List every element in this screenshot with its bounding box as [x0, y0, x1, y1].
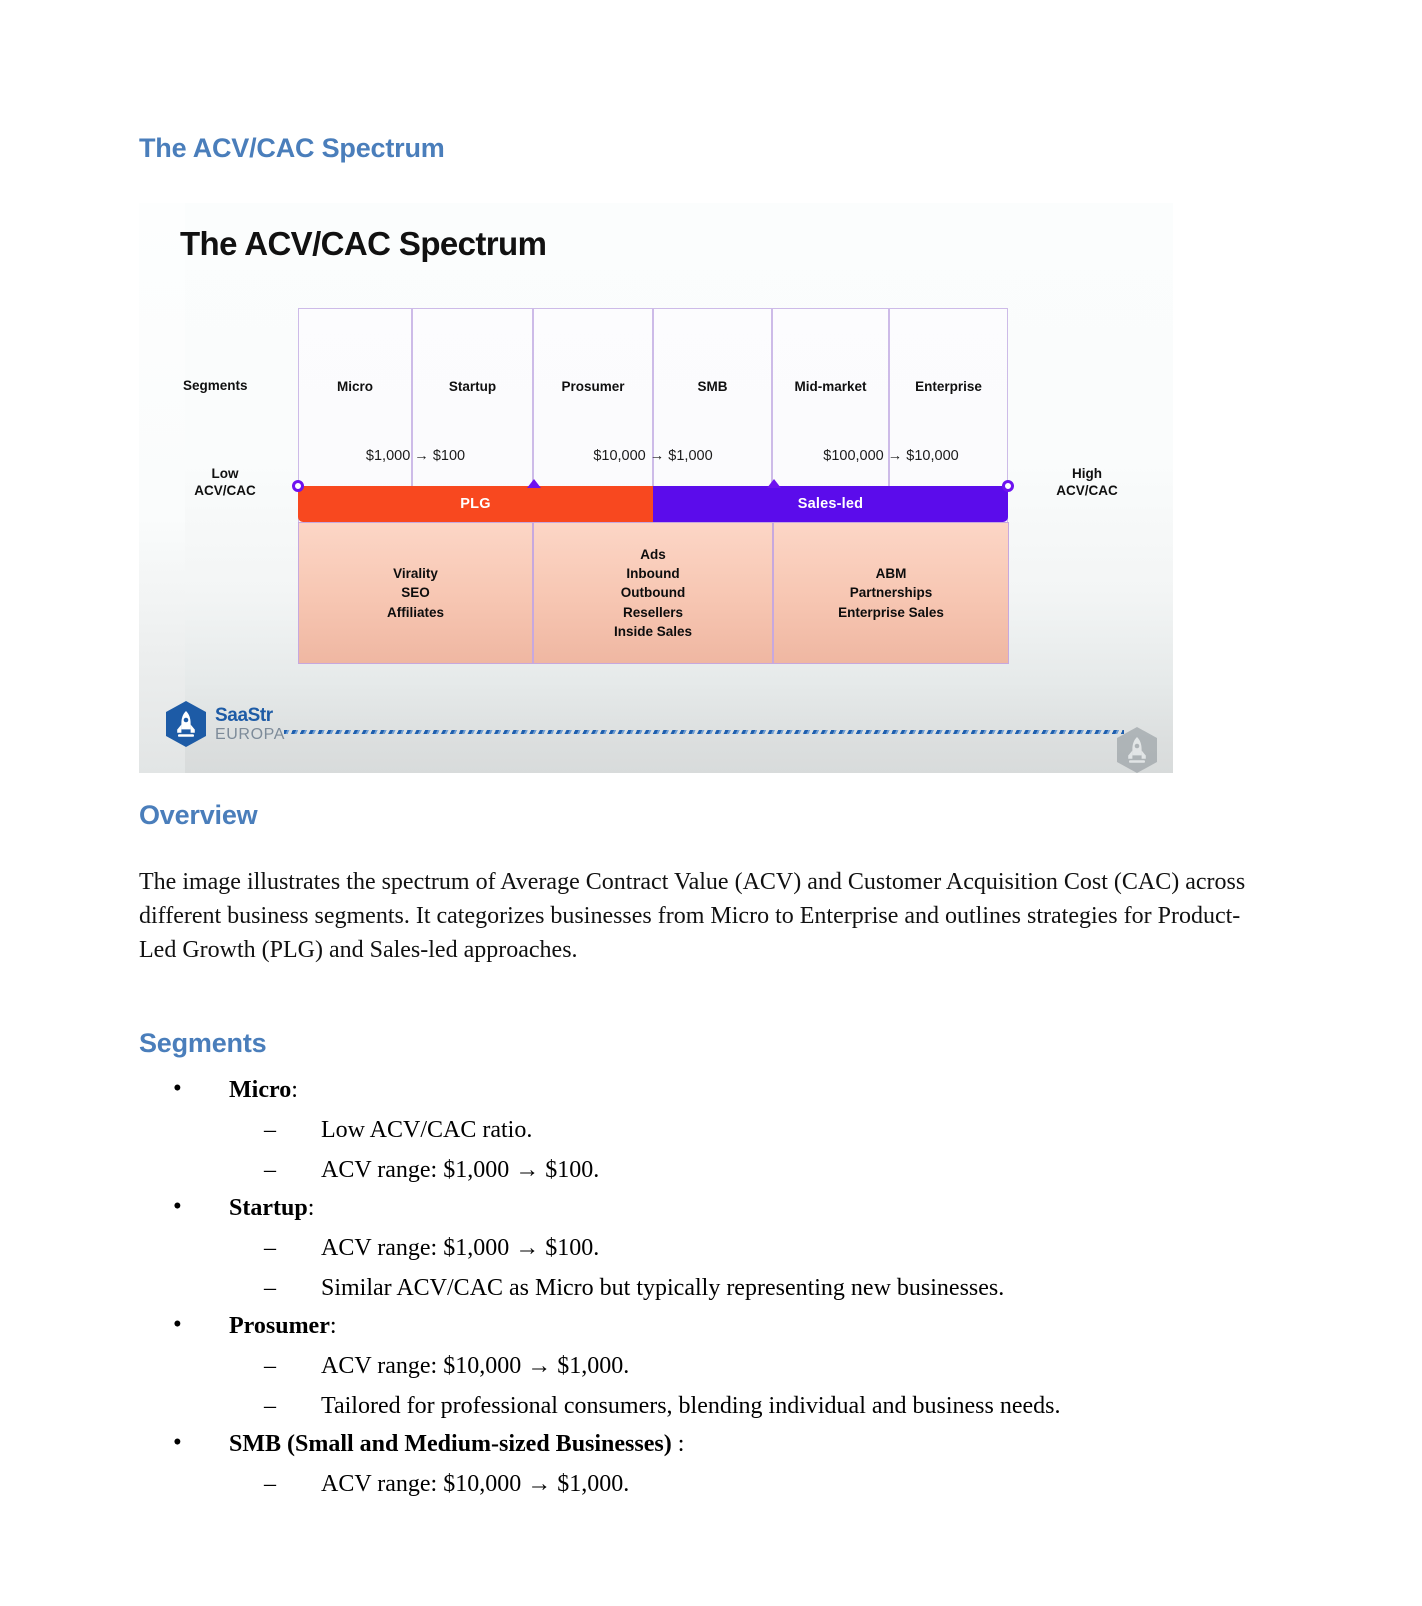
- low-acv-cac-label: Low ACV/CAC: [173, 466, 277, 500]
- overview-heading: Overview: [139, 800, 257, 831]
- bullet-label-suffix: :: [308, 1195, 315, 1221]
- low-acv-cac-line2: ACV/CAC: [194, 483, 256, 498]
- segment-label-enterprise: Enterprise: [890, 379, 1007, 394]
- spectrum-tick-marker-2-icon: [767, 479, 781, 488]
- sub-bullet-marker: –: [264, 1118, 276, 1142]
- saastr-rocket-hexagon-icon: [164, 700, 208, 748]
- acv-cac-spectrum-slide: The ACV/CAC Spectrum Segments Micro Star…: [139, 203, 1173, 773]
- segment-label-micro: Micro: [299, 379, 411, 394]
- tactic-item: Inside Sales: [614, 622, 692, 641]
- saastr-brand-name: SaaStr: [215, 706, 285, 725]
- acv-range-midmarket-enterprise: $100,000 → $10,000: [773, 448, 1009, 464]
- list-item: – Tailored for professional consumers, b…: [139, 1394, 1319, 1418]
- segments-row-label: Segments: [183, 378, 248, 393]
- sub-bullet-marker: –: [264, 1472, 276, 1496]
- plg-bar-label: PLG: [460, 496, 490, 512]
- list-item: • Startup:: [139, 1196, 1319, 1220]
- bullet-label-text: Startup: [229, 1195, 308, 1221]
- saastr-wordmark: SaaStr EUROPA: [215, 706, 285, 743]
- sub-bullet-marker: –: [264, 1394, 276, 1418]
- high-acv-cac-line2: ACV/CAC: [1056, 483, 1118, 498]
- high-acv-cac-label: High ACV/CAC: [1035, 466, 1139, 500]
- sub-bullet-text: ACV range: $10,000 → $1,000.: [321, 1471, 629, 1497]
- bullet-label-suffix: :: [330, 1313, 337, 1339]
- spectrum-end-marker-icon: [1002, 480, 1014, 492]
- spectrum-tick-marker-1-icon: [527, 479, 541, 488]
- bullet-label: SMB (Small and Medium-sized Businesses) …: [229, 1431, 684, 1457]
- acv-range-prosumer-smb: $10,000 → $1,000: [533, 448, 773, 464]
- sub-bullet-text: ACV range: $1,000 → $100.: [321, 1157, 599, 1183]
- sub-bullet-text: Tailored for professional consumers, ble…: [321, 1393, 1061, 1419]
- footer-dashed-line: [284, 730, 1124, 734]
- sub-bullet-marker: –: [264, 1276, 276, 1300]
- tactic-item: ABM: [838, 564, 944, 583]
- sub-bullet-text: ACV range: $10,000 → $1,000.: [321, 1353, 629, 1379]
- tactic-item: Partnerships: [838, 583, 944, 602]
- segment-label-smb: SMB: [654, 379, 771, 394]
- list-item: – ACV range: $10,000 → $1,000.: [139, 1354, 1319, 1378]
- document-page: The ACV/CAC Spectrum The ACV/CAC Spectru…: [0, 0, 1422, 1606]
- sub-bullet-marker: –: [264, 1236, 276, 1260]
- bullet-label-text: Prosumer: [229, 1313, 330, 1339]
- bullet-marker: •: [173, 1430, 182, 1455]
- bullet-label: Startup:: [229, 1195, 314, 1221]
- list-item: • SMB (Small and Medium-sized Businesses…: [139, 1432, 1319, 1456]
- spectrum-start-marker-icon: [292, 480, 304, 492]
- plg-bar: PLG: [298, 486, 653, 522]
- tactic-item: Virality: [387, 564, 444, 583]
- bullet-label: Prosumer:: [229, 1313, 337, 1339]
- tactics-box-mixed: Ads Inbound Outbound Resellers Inside Sa…: [533, 522, 773, 664]
- list-item: • Prosumer:: [139, 1314, 1319, 1338]
- tactic-item: Outbound: [614, 583, 692, 602]
- bullet-label: Micro:: [229, 1077, 298, 1103]
- slide-title: The ACV/CAC Spectrum: [180, 225, 546, 263]
- bullet-marker: •: [173, 1312, 182, 1337]
- bullet-label-text: Micro: [229, 1077, 291, 1103]
- tactic-item: SEO: [387, 583, 444, 602]
- saastr-logo: SaaStr EUROPA: [164, 700, 285, 748]
- sub-bullet-marker: –: [264, 1354, 276, 1378]
- segment-label-startup: Startup: [413, 379, 532, 394]
- page-title: The ACV/CAC Spectrum: [139, 133, 445, 164]
- tactics-box-sales-led: ABM Partnerships Enterprise Sales: [773, 522, 1009, 664]
- saastr-watermark-icon: [1114, 726, 1160, 773]
- sales-led-bar: Sales-led: [653, 486, 1008, 522]
- sales-led-bar-label: Sales-led: [798, 496, 863, 512]
- tactic-item: Ads: [614, 545, 692, 564]
- sub-bullet-text: Low ACV/CAC ratio.: [321, 1117, 532, 1143]
- overview-paragraph: The image illustrates the spectrum of Av…: [139, 865, 1269, 967]
- list-item: – ACV range: $1,000 → $100.: [139, 1236, 1319, 1260]
- segment-label-prosumer: Prosumer: [534, 379, 652, 394]
- list-item: • Micro:: [139, 1078, 1319, 1102]
- acv-range-micro-startup: $1,000 → $100: [298, 448, 533, 464]
- sub-bullet-text: Similar ACV/CAC as Micro but typically r…: [321, 1275, 1004, 1301]
- low-acv-cac-line1: Low: [212, 466, 239, 481]
- tactic-item: Resellers: [614, 603, 692, 622]
- tactic-item: Inbound: [614, 564, 692, 583]
- bullet-label-suffix: :: [672, 1431, 685, 1457]
- bullet-label-suffix: :: [291, 1077, 298, 1103]
- tactic-item: Affiliates: [387, 603, 444, 622]
- sub-bullet-text: ACV range: $1,000 → $100.: [321, 1235, 599, 1261]
- segments-heading: Segments: [139, 1028, 266, 1059]
- tactic-item: Enterprise Sales: [838, 603, 944, 622]
- sub-bullet-marker: –: [264, 1158, 276, 1182]
- tactics-box-plg: Virality SEO Affiliates: [298, 522, 533, 664]
- list-item: – ACV range: $10,000 → $1,000.: [139, 1472, 1319, 1496]
- bullet-label-text: SMB (Small and Medium-sized Businesses): [229, 1431, 672, 1457]
- list-item: – ACV range: $1,000 → $100.: [139, 1158, 1319, 1182]
- high-acv-cac-line1: High: [1072, 466, 1102, 481]
- segment-label-mid-market: Mid-market: [773, 379, 888, 394]
- list-item: – Similar ACV/CAC as Micro but typically…: [139, 1276, 1319, 1300]
- saastr-brand-sub: EUROPA: [215, 727, 285, 743]
- bullet-marker: •: [173, 1194, 182, 1219]
- segments-bullet-list: • Micro: – Low ACV/CAC ratio. – ACV rang…: [139, 1078, 1319, 1496]
- list-item: – Low ACV/CAC ratio.: [139, 1118, 1319, 1142]
- bullet-marker: •: [173, 1076, 182, 1101]
